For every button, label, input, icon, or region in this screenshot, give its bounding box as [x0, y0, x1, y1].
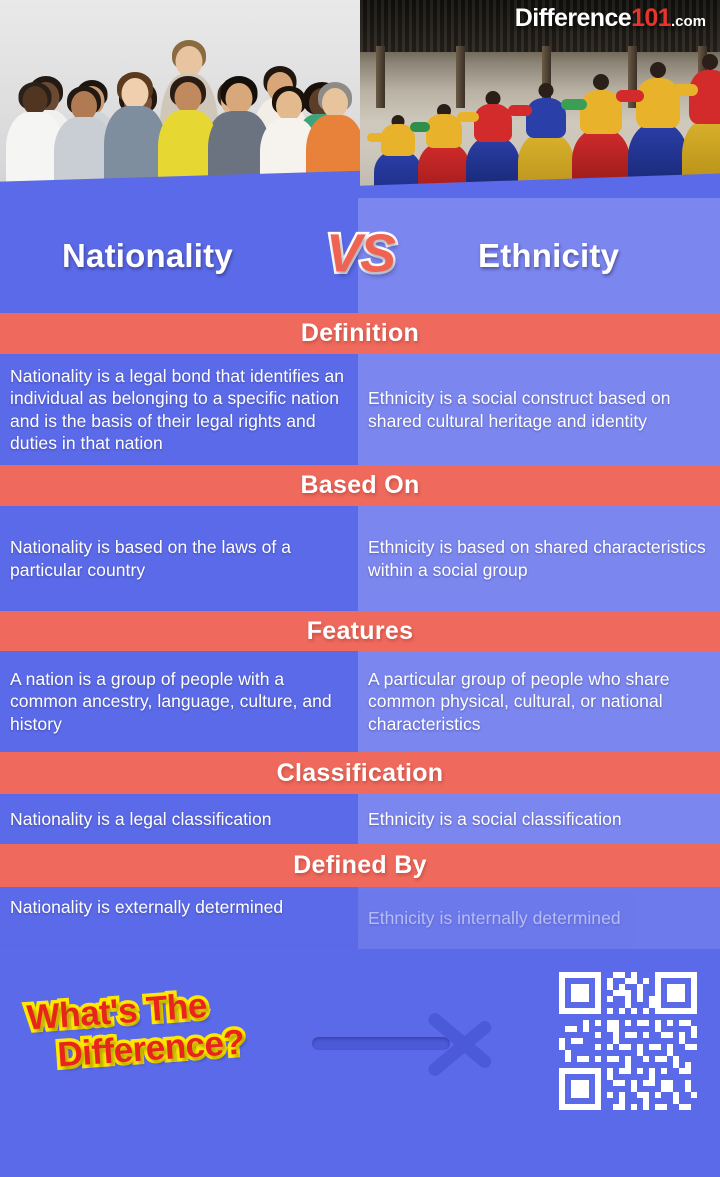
logo-word: Difference [515, 4, 631, 32]
cell-ethnicity-based-on: Ethnicity is based on shared characteris… [358, 506, 720, 611]
title-nationality: Nationality [62, 237, 233, 275]
cell-nationality-classification: Nationality is a legal classification [0, 794, 358, 844]
cell-nationality-defined-by: Nationality is externally determined [0, 887, 358, 949]
section-heading-classification: Classification [0, 752, 720, 794]
section-heading-definition: Definition [0, 313, 720, 354]
cell-ethnicity-features: A particular group of people who share c… [358, 651, 720, 752]
footer-cta-bar: What's The Difference? [0, 949, 720, 1136]
title-ethnicity: Ethnicity [478, 237, 619, 275]
section-body-features: A nation is a group of people with a com… [0, 651, 720, 752]
cell-nationality-definition: Nationality is a legal bond that identif… [0, 354, 358, 465]
title-bar: Nationality VS Ethnicity [0, 198, 720, 313]
cell-ethnicity-defined-by: Ethnicity is internally determined [358, 887, 720, 949]
logo-number: 101 [631, 4, 671, 32]
hero-banner: Difference101.com [0, 0, 720, 198]
section-heading-features: Features [0, 611, 720, 651]
section-heading-defined-by: Defined By [0, 844, 720, 887]
arrow-right-icon [312, 1033, 518, 1053]
hero-image-people [0, 0, 360, 198]
site-logo: Difference101.com [515, 6, 706, 31]
section-body-defined-by: Nationality is externally determined Eth… [0, 887, 720, 949]
qr-code-icon[interactable] [553, 966, 703, 1116]
cell-ethnicity-classification: Ethnicity is a social classification [358, 794, 720, 844]
cell-ethnicity-definition: Ethnicity is a social construct based on… [358, 354, 720, 465]
logo-domain: .com [671, 13, 706, 30]
section-body-classification: Nationality is a legal classification Et… [0, 794, 720, 844]
cell-nationality-features: A nation is a group of people with a com… [0, 651, 358, 752]
vs-badge: VS [326, 222, 394, 284]
section-body-based-on: Nationality is based on the laws of a pa… [0, 506, 720, 611]
cell-nationality-based-on: Nationality is based on the laws of a pa… [0, 506, 358, 611]
whats-the-difference-badge: What's The Difference? [26, 986, 246, 1075]
section-heading-based-on: Based On [0, 465, 720, 506]
infographic-page: Difference101.com Nationality VS Ethnici… [0, 0, 720, 1177]
section-body-definition: Nationality is a legal bond that identif… [0, 354, 720, 465]
photo-diverse-group [0, 0, 360, 198]
